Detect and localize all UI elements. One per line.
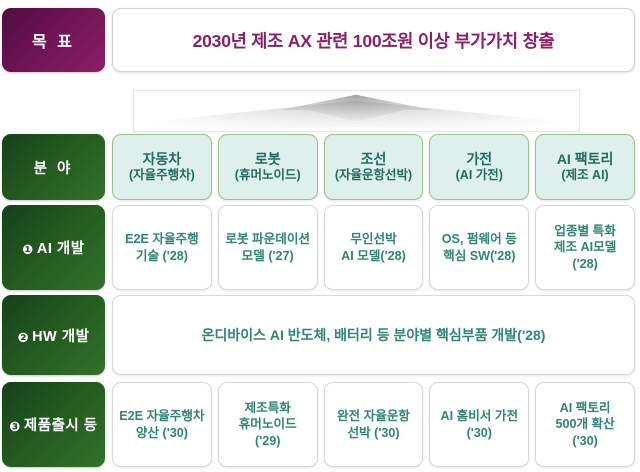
product-launch-cell-5[interactable]: AI 팩토리500개 확산('30) [535,382,635,467]
hw-development-row: ❷HW 개발 온디바이스 AI 반도체, 배터리 등 분야별 핵심부품 개발('… [0,295,640,375]
hw-development-label: ❷HW 개발 [2,295,105,375]
field-cell-title: 로봇 [255,151,281,168]
ai-development-cell-2[interactable]: 로봇 파운데이션모델 ('27) [218,205,318,290]
goal-label: 목 표 [2,8,105,72]
ai-development-cell-line: 업종별 특화 [554,223,615,239]
product-launch-cell-line: AI 팩토리 [560,400,611,416]
ai-development-label: ❶AI 개발 [2,205,105,290]
ai-development-cell-line: E2E 자율주행 [125,231,199,247]
product-launch-row: ❸제품출시 등 E2E 자율주행차양산 ('30)제조특화휴머노이드('29)완… [0,382,640,467]
product-launch-label: ❸제품출시 등 [2,382,105,467]
field-cell-subtitle: (휴머노이드) [235,168,301,183]
ai-development-cell-group: E2E 자율주행기술 ('28)로봇 파운데이션모델 ('27)무인선박AI 모… [112,205,635,290]
product-launch-cell-2[interactable]: 제조특화휴머노이드('29) [218,382,318,467]
field-cell-3[interactable]: 조선(자율운항선박) [324,134,424,200]
product-launch-cell-line: ('30) [467,425,492,441]
ai-development-cell-1[interactable]: E2E 자율주행기술 ('28) [112,205,212,290]
row-number-badge-3: ❸ [9,420,21,433]
field-cell-title: 조선 [361,151,387,168]
field-cell-title: 자동차 [143,151,182,168]
ai-development-cell-line: AI 모델('28) [341,248,406,264]
product-launch-cell-line: 양산 ('30) [136,425,188,441]
field-row: 분 야 자동차(자율주행차)로봇(휴머노이드)조선(자율운항선박)가전(AI 가… [0,134,640,200]
product-launch-cell-line: E2E 자율주행차 [119,408,204,424]
product-launch-label-text: 제품출시 등 [24,418,98,434]
row-number-badge-1: ❶ [22,243,34,256]
product-launch-cell-1[interactable]: E2E 자율주행차양산 ('30) [112,382,212,467]
ai-development-cell-line: 무인선박 [350,231,396,247]
field-cell-1[interactable]: 자동차(자율주행차) [112,134,212,200]
hw-development-label-text: HW 개발 [32,329,89,345]
product-launch-cell-group: E2E 자율주행차양산 ('30)제조특화휴머노이드('29)완전 자율운항선박… [112,382,635,467]
field-cell-title: AI 팩토리 [557,151,614,168]
field-cell-subtitle: (AI 가전) [456,168,503,183]
field-cell-subtitle: (제조 AI) [561,168,608,183]
ai-development-cell-line: 기술 ('28) [136,248,188,264]
row-number-badge-2: ❷ [18,331,30,344]
product-launch-cell-line: AI 홈비서 가전 [441,408,519,424]
ai-development-label-text: AI 개발 [37,241,85,257]
goal-statement: 2030년 제조 AX 관련 100조원 이상 부가가치 창출 [112,8,635,72]
product-launch-cell-line: ('29) [255,433,280,449]
down-arrow-funnel-icon [133,90,580,132]
field-cell-subtitle: (자율운항선박) [335,168,412,183]
product-launch-cell-4[interactable]: AI 홈비서 가전('30) [429,382,529,467]
ai-development-cell-5[interactable]: 업종별 특화제조 AI모델('28) [535,205,635,290]
field-cell-4[interactable]: 가전(AI 가전) [429,134,529,200]
ai-development-cell-3[interactable]: 무인선박AI 모델('28) [324,205,424,290]
hw-development-statement: 온디바이스 AI 반도체, 배터리 등 분야별 핵심부품 개발('28) [112,295,635,375]
ai-development-cell-line: 제조 AI모델 [554,239,616,255]
ai-development-cell-4[interactable]: OS, 펌웨어 등핵심 SW('28) [429,205,529,290]
ai-development-row: ❶AI 개발 E2E 자율주행기술 ('28)로봇 파운데이션모델 ('27)무… [0,205,640,290]
roadmap-diagram: 목 표 2030년 제조 AX 관련 100조원 이상 부가가치 창출 [0,0,640,472]
field-cell-subtitle: (자율주행차) [129,168,195,183]
ai-development-cell-line: 핵심 SW('28) [443,248,515,264]
product-launch-cell-line: 선박 ('30) [347,425,399,441]
product-launch-cell-3[interactable]: 완전 자율운항선박 ('30) [324,382,424,467]
product-launch-cell-line: ('30) [572,433,597,449]
ai-development-cell-line: OS, 펌웨어 등 [442,231,517,247]
field-cell-group: 자동차(자율주행차)로봇(휴머노이드)조선(자율운항선박)가전(AI 가전)AI… [112,134,635,200]
product-launch-cell-line: 500개 확산 [555,416,614,432]
goal-row: 목 표 2030년 제조 AX 관련 100조원 이상 부가가치 창출 [0,8,640,72]
field-row-label: 분 야 [2,134,105,200]
product-launch-cell-line: 완전 자율운항 [337,408,410,424]
field-cell-2[interactable]: 로봇(휴머노이드) [218,134,318,200]
product-launch-cell-line: 휴머노이드 [239,416,297,432]
field-cell-5[interactable]: AI 팩토리(제조 AI) [535,134,635,200]
ai-development-cell-line: 모델 ('27) [242,248,294,264]
product-launch-cell-line: 제조특화 [245,400,291,416]
ai-development-cell-line: 로봇 파운데이션 [225,231,310,247]
ai-development-cell-line: ('28) [572,256,597,272]
field-cell-title: 가전 [466,151,492,168]
